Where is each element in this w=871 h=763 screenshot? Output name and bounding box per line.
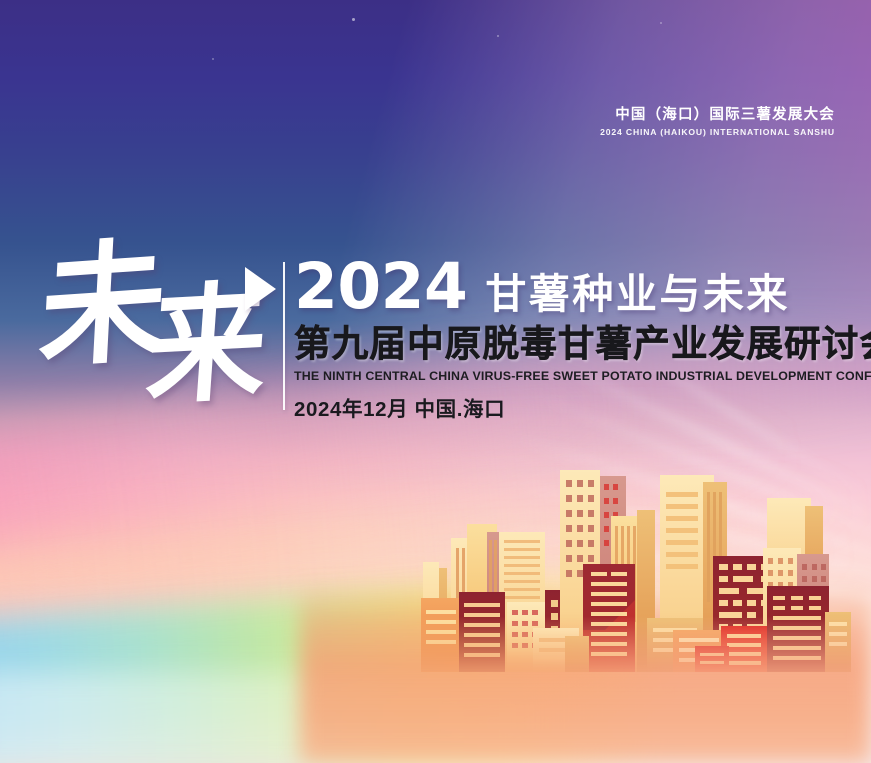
headline-cn: 甘薯种业与未来 <box>485 273 790 316</box>
star-decor <box>212 58 214 60</box>
conference-title-cn: 第九届中原脱毒甘薯产业发展研讨会 <box>294 324 854 365</box>
organizer-header: 中国（海口）国际三薯发展大会 2024 CHINA (HAIKOU) INTER… <box>600 107 835 137</box>
conference-title-en: THE NINTH CENTRAL CHINA VIRUS-FREE SWEET… <box>294 369 854 383</box>
play-triangle-icon <box>245 267 276 311</box>
title-block: 2024 甘薯种业与未来 第九届中原脱毒甘薯产业发展研讨会 THE NINTH … <box>294 254 854 422</box>
vertical-divider <box>283 262 285 410</box>
conference-poster: 中国（海口）国际三薯发展大会 2024 CHINA (HAIKOU) INTER… <box>0 0 871 763</box>
star-decor <box>352 18 355 21</box>
organizer-name-cn: 中国（海口）国际三薯发展大会 <box>600 107 835 124</box>
headline-row: 2024 甘薯种业与未来 <box>294 254 854 320</box>
star-decor <box>497 35 499 37</box>
calligraphy-future: 未 来 <box>44 244 274 414</box>
city-skyline-illustration <box>415 440 871 685</box>
date-location-label: 2024年12月 中国.海口 <box>294 392 854 422</box>
organizer-name-en: 2024 CHINA (HAIKOU) INTERNATIONAL SANSHU <box>600 127 835 137</box>
year-label: 2024 <box>294 254 467 320</box>
star-decor <box>660 22 662 24</box>
